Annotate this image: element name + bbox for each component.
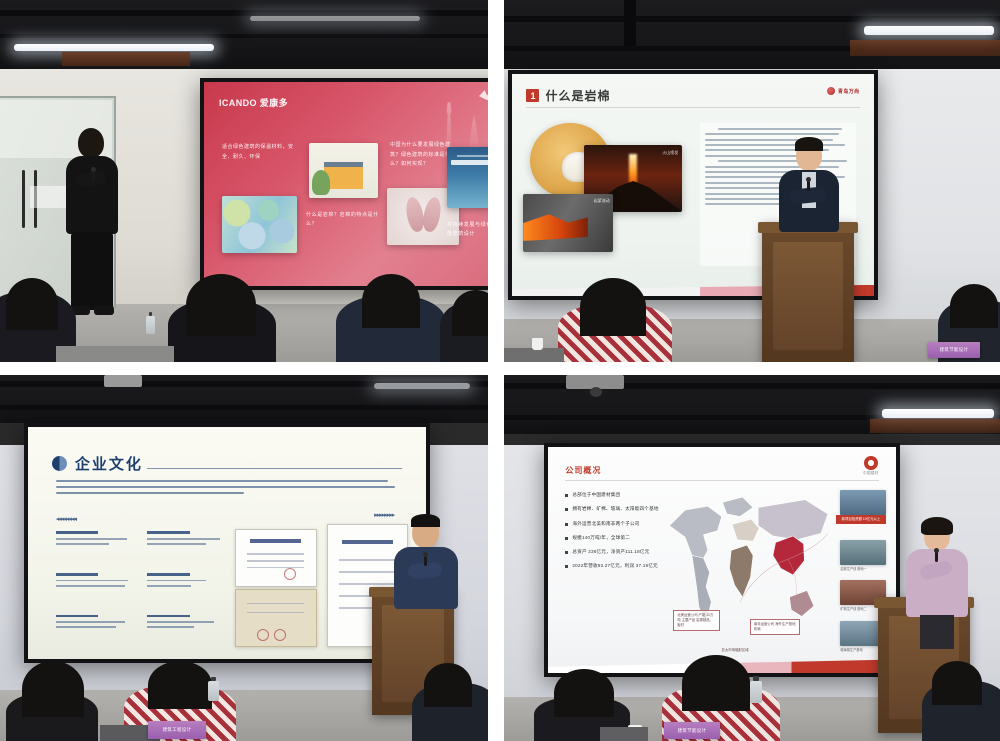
slide-intro-paragraph [56,480,398,498]
slide-header: 企业文化 [52,453,143,474]
slide-header: 1 什么是岩棉 [526,87,610,104]
list-item: 总资产 236亿元，净资产111.18亿元 [565,549,680,555]
ceiling [0,0,488,69]
facility-photo [840,540,885,565]
list-item: 2022年营收93.27亿元，利润 37.19亿元 [565,563,680,569]
image-label: 岩浆流动 [594,198,610,204]
audience-table [56,346,174,362]
logo-text: 青岛万尚 [838,88,860,95]
ceiling [0,375,488,423]
slide-title: 企业文化 [75,453,143,474]
slide-title: 什么是岩棉 [545,87,610,104]
ceiling [504,375,1000,434]
chevron-left-decoration: ◂◂◂◂◂◂◂◂ [56,515,76,523]
cup [532,338,543,350]
ceiling-light [14,44,214,51]
bullet-icon [565,494,568,497]
ceiling [504,0,1000,80]
ceiling-light [864,26,994,35]
name-placard: 建筑节能设计 [928,342,980,358]
microphone [92,170,95,181]
list-item: 规模140万吨/年，全球第二 [565,535,680,541]
ceiling-light [882,409,994,418]
bullet-icon [565,523,568,526]
panel-top-right[interactable]: 1 什么是岩棉 青岛万尚 火山喷发 [504,0,1000,362]
ceiling-light [250,16,420,21]
audience-head [554,669,614,717]
panel-bottom-left[interactable]: 企业文化 ◂◂◂◂◂◂◂◂ ▸▸▸▸▸▸▸▸ [0,375,488,741]
culture-column-3 [56,573,132,590]
placard-text: 建筑工程设计 [163,727,192,733]
audience-head [148,661,212,709]
bullet-icon [565,537,568,540]
audience-head [932,661,982,705]
audience-head [22,661,84,717]
slide-brand-logo: ICANDO 爱康多 [219,96,288,109]
list-item: 海外运营北美和南非两个子公司 [565,521,680,527]
audience-bottom-left: 建筑工程设计 [0,617,488,741]
facility-badge: 新项目投资额 10亿元以上 [836,515,885,524]
name-placard: 建筑工程设计 [148,721,206,739]
image-label: 火山喷发 [662,150,678,156]
culture-column-1 [56,531,132,548]
audience-bottom-right: 建筑节能设计 [504,617,1000,741]
presenter-head [78,128,104,158]
name-placard: 建筑节能设计 [664,722,720,739]
title-divider [147,468,402,470]
list-item: 拥有岩棉、矿棉、玻璃、太阳能四个基地 [565,506,680,512]
bullet-icon [565,508,568,511]
logo-dot-icon [827,87,835,95]
bird-icon [479,90,488,100]
photo-collage: ICANDO 爱康多 适合绿色建筑的保温材料，安全、耐久、环保 什么是岩棉？岩棉… [0,0,1000,741]
room-scene-top-right: 1 什么是岩棉 青岛万尚 火山喷发 [504,0,1000,362]
panel-bottom-right[interactable]: 公司概况 中国建材 总部位于中国建材集团 [504,375,1000,741]
tower-graphic-secondary [465,115,483,149]
facility-caption: 岩棉生产线 基地一 [840,567,885,571]
bullet-icon [565,551,568,554]
slide-number-badge: 1 [526,89,539,102]
water-bottle [750,681,762,703]
audience-head [6,278,58,330]
microphone [807,180,810,191]
presenter-bottom-left [392,517,462,627]
bullet-icon [565,565,568,568]
placard-text: 建筑节能设计 [940,347,969,353]
audience-head [186,274,256,336]
moon-icon [52,456,67,471]
title-divider [526,107,859,108]
audience-head [452,290,488,336]
audience-table [600,727,648,741]
certificate-image [235,529,317,587]
microphone [935,551,938,562]
thumbnail-building [309,143,378,198]
audience-top-right: 建筑节能设计 [504,239,1000,362]
list-item: 总部位于中国建材集团 [565,492,680,498]
audience-head [682,655,750,711]
slide-bullet-list: 总部位于中国建材集团 拥有岩棉、矿棉、玻璃、太阳能四个基地 海外运营北美和南非两… [565,492,680,577]
room-scene-top-left: ICANDO 爱康多 适合绿色建筑的保温材料，安全、耐久、环保 什么是岩棉？岩棉… [0,0,488,362]
slide-caption-right: 可持续发展与绿色节能建筑设计 [447,221,488,240]
slide-caption-center: 什么是岩棉？岩棉的特点是什么？ [306,211,381,230]
water-bottle [208,681,219,701]
room-scene-bottom-left: 企业文化 ◂◂◂◂◂◂◂◂ ▸▸▸▸▸▸▸▸ [0,375,488,741]
culture-column-4 [147,573,223,590]
audience-head [362,274,420,328]
company-logo: 中国建材 [863,456,879,476]
title-divider [565,480,878,481]
audience-head [424,663,472,707]
audience-top-left [0,239,488,362]
audience-head [950,284,998,328]
placard-text: 建筑节能设计 [678,728,707,734]
slide-blurb-left: 适合绿色建筑的保温材料，安全、耐久、环保 [222,143,294,162]
logo-ring-icon [864,456,878,470]
room-scene-bottom-right: 公司概况 中国建材 总部位于中国建材集团 [504,375,1000,741]
logo-text: 中国建材 [863,471,879,476]
slide-title: 公司概况 [565,465,601,476]
audience-head [580,278,646,336]
panel-top-left[interactable]: ICANDO 爱康多 适合绿色建筑的保温材料，安全、耐久、环保 什么是岩棉？岩棉… [0,0,488,362]
poster-graphic [447,147,488,208]
company-logo: 青岛万尚 [827,87,860,95]
facility-photo [840,490,885,515]
ceiling-light [374,383,470,389]
microphone [424,555,427,566]
audience-table [504,348,564,362]
culture-column-2 [147,531,223,548]
